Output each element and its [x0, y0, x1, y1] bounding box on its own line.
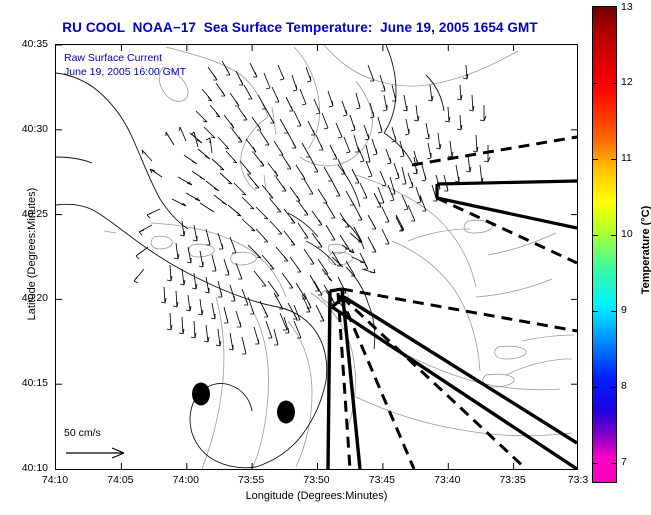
- y-axis-label: Latitude (Degrees:Minutes): [26, 134, 38, 374]
- colorbar-tick: [593, 463, 598, 464]
- colorbar-tick-label-8: 8: [621, 380, 627, 392]
- colorbar-tick: [593, 159, 598, 160]
- colorbar-axis-label: Temperature (°C): [640, 170, 651, 330]
- colorbar-tick: [611, 463, 616, 464]
- colorbar-gradient: [593, 7, 616, 482]
- x-tick-label-7: 73:35: [483, 474, 543, 486]
- colorbar-tick: [611, 83, 616, 84]
- chart-title: RU COOL NOAA−17 Sea Surface Temperature:…: [0, 20, 600, 35]
- annotation-line-2: June 19, 2005 16:00 GMT: [64, 66, 186, 78]
- figure-canvas: RU COOL NOAA−17 Sea Surface Temperature:…: [0, 0, 651, 515]
- radar-site-markers: [192, 383, 295, 424]
- y-tick-label-0: 40:35: [0, 38, 48, 50]
- colorbar-tick: [593, 83, 598, 84]
- y-tick-label-5: 40:10: [0, 462, 48, 474]
- y-tick-label-2: 40:25: [0, 208, 48, 220]
- y-tick-label-4: 40:15: [0, 377, 48, 389]
- radar-site-marker: [192, 383, 210, 406]
- colorbar-tick-label-11: 11: [621, 152, 632, 164]
- sst-contour-lines: [104, 45, 574, 469]
- map-graphics: [56, 45, 577, 469]
- annotation-line-1: Raw Surface Current: [64, 52, 162, 64]
- colorbar-tick: [593, 387, 598, 388]
- map-plot-area[interactable]: Raw Surface Current June 19, 2005 16:00 …: [55, 44, 578, 470]
- x-tick-label-6: 73:40: [417, 474, 477, 486]
- colorbar-tick: [611, 235, 616, 236]
- colorbar-tick-label-7: 7: [621, 456, 627, 468]
- axis-tick-marks: [56, 45, 577, 469]
- colorbar-tick: [611, 159, 616, 160]
- x-axis-label: Longitude (Degrees:Minutes): [55, 490, 578, 502]
- x-tick-label-2: 74:00: [156, 474, 216, 486]
- velocity-scale-arrow: [66, 448, 124, 458]
- velocity-scale-label: 50 cm/s: [64, 427, 101, 439]
- colorbar-tick: [611, 311, 616, 312]
- colorbar-tick: [593, 235, 598, 236]
- radar-site-marker: [277, 401, 295, 424]
- colorbar-tick: [611, 387, 616, 388]
- x-tick-label-3: 73:55: [221, 474, 281, 486]
- colorbar-tick-label-9: 9: [621, 304, 627, 316]
- x-tick-label-5: 73:45: [352, 474, 412, 486]
- x-tick-label-1: 74:05: [90, 474, 150, 486]
- x-tick-label-0: 74:10: [25, 474, 85, 486]
- radar-beam-boundaries-lower: [332, 289, 577, 469]
- x-tick-label-4: 73:50: [287, 474, 347, 486]
- colorbar-tick-label-13: 13: [621, 1, 633, 13]
- colorbar-tick-label-10: 10: [621, 228, 633, 240]
- surface-current-vectors: [134, 61, 490, 354]
- colorbar[interactable]: [592, 6, 617, 483]
- y-tick-label-1: 40:30: [0, 123, 48, 135]
- colorbar-tick: [593, 311, 598, 312]
- colorbar-tick-label-12: 12: [621, 76, 633, 88]
- y-tick-label-3: 40:20: [0, 292, 48, 304]
